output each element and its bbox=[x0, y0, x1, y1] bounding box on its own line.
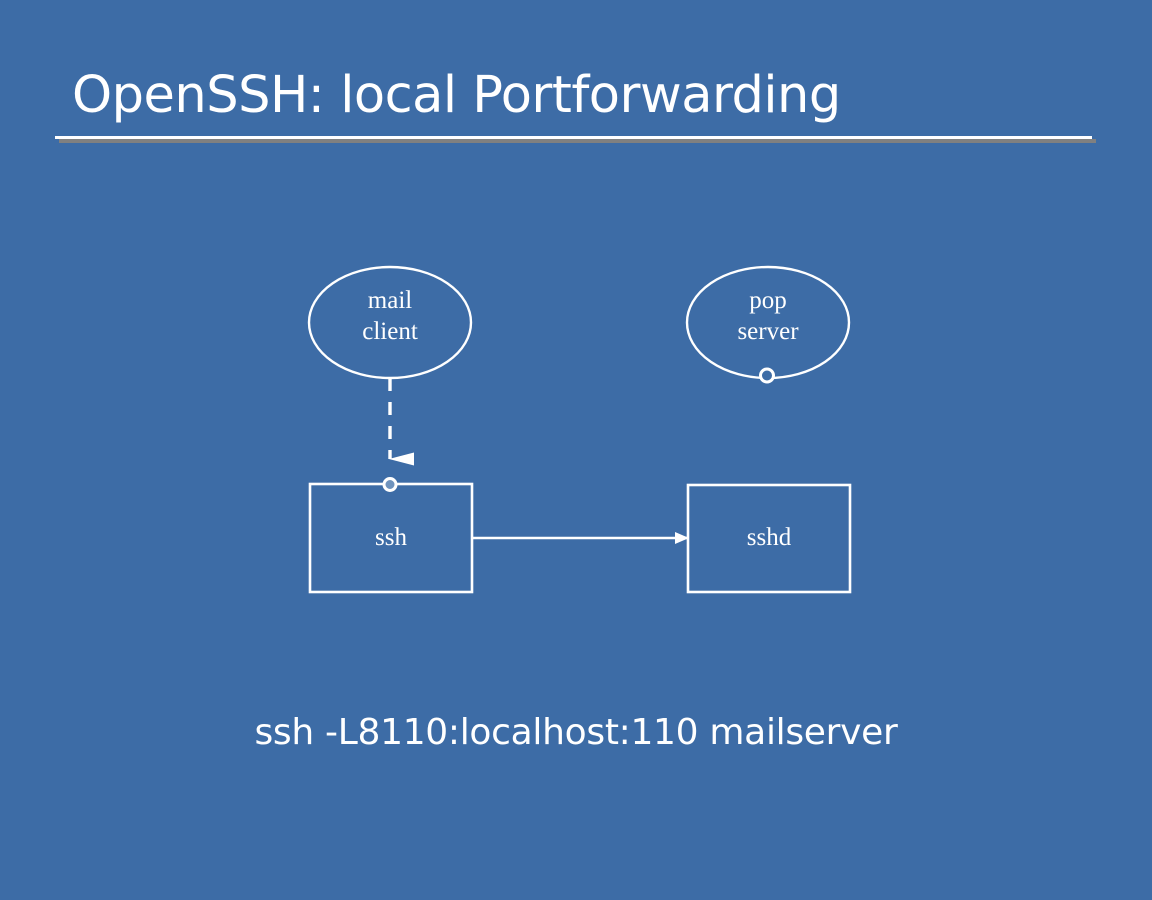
node-pop-server bbox=[687, 267, 849, 378]
slide: OpenSSH: local Portforwarding mai bbox=[0, 0, 1152, 900]
port-dot-pop-server bbox=[761, 369, 774, 382]
node-ssh bbox=[310, 484, 472, 592]
network-diagram bbox=[0, 0, 1152, 900]
command-line-text: ssh -L8110:localhost:110 mailserver bbox=[0, 707, 1152, 759]
port-dot-ssh bbox=[384, 479, 396, 491]
node-sshd bbox=[688, 485, 850, 592]
node-mail-client bbox=[309, 267, 471, 378]
